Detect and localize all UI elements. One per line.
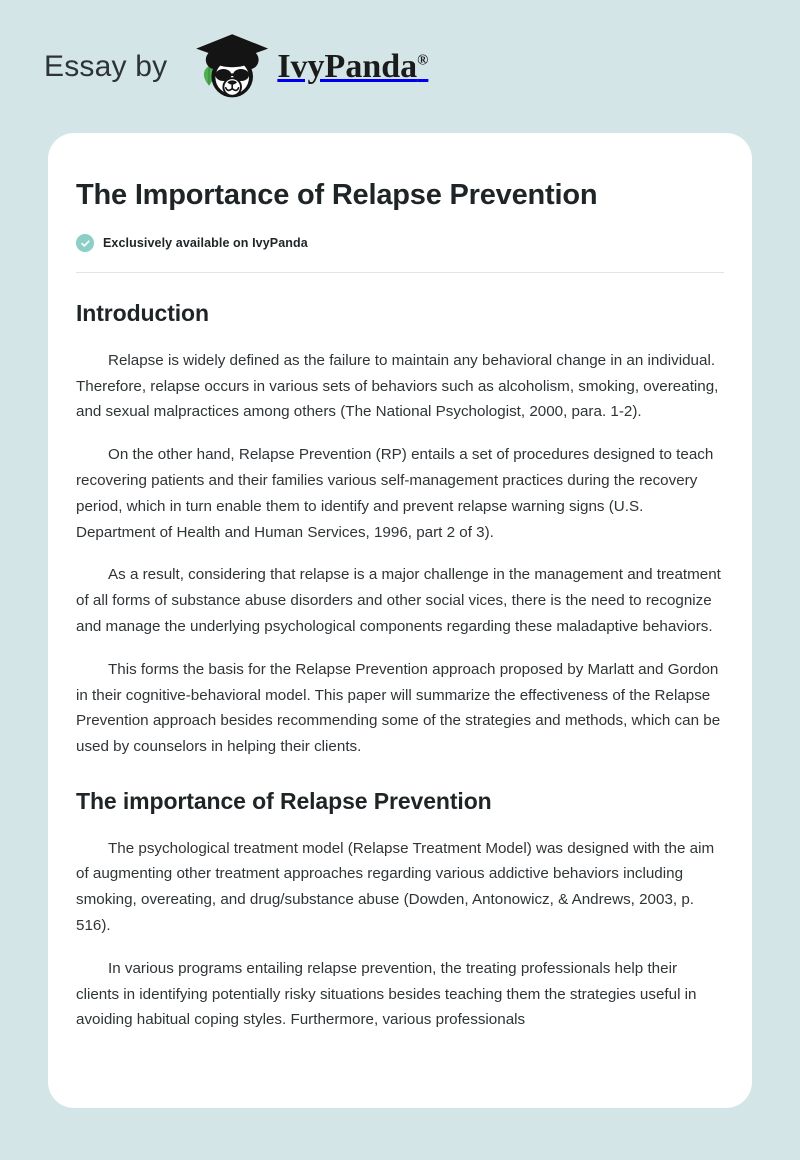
essay-by-label: Essay by: [44, 52, 167, 82]
ivypanda-brand-link[interactable]: IvyPanda®: [185, 31, 428, 103]
registered-trademark-icon: ®: [417, 52, 428, 68]
status-badge-label: Exclusively available on IvyPanda: [103, 236, 308, 250]
document-card: The Importance of Relapse Prevention Exc…: [48, 133, 752, 1108]
paragraph: In various programs entailing relapse pr…: [76, 956, 724, 1033]
section-heading-importance: The importance of Relapse Prevention: [76, 788, 724, 816]
section-heading-introduction: Introduction: [76, 300, 724, 328]
title-divider: [76, 272, 724, 273]
paragraph: The psychological treatment model (Relap…: [76, 836, 724, 939]
panda-graduate-icon: [185, 31, 273, 103]
ivypanda-wordmark: IvyPanda®: [277, 50, 428, 84]
paragraph: On the other hand, Relapse Prevention (R…: [76, 442, 724, 545]
status-badge: Exclusively available on IvyPanda: [76, 234, 724, 252]
paragraph: As a result, considering that relapse is…: [76, 562, 724, 639]
page-header: Essay by: [0, 0, 800, 95]
brand-name-text: IvyPanda: [277, 48, 417, 85]
document-content: The Importance of Relapse Prevention Exc…: [76, 178, 724, 1033]
paragraph: Relapse is widely defined as the failure…: [76, 348, 724, 425]
paragraph: This forms the basis for the Relapse Pre…: [76, 657, 724, 760]
check-circle-icon: [76, 234, 94, 252]
page-title: The Importance of Relapse Prevention: [76, 178, 724, 212]
